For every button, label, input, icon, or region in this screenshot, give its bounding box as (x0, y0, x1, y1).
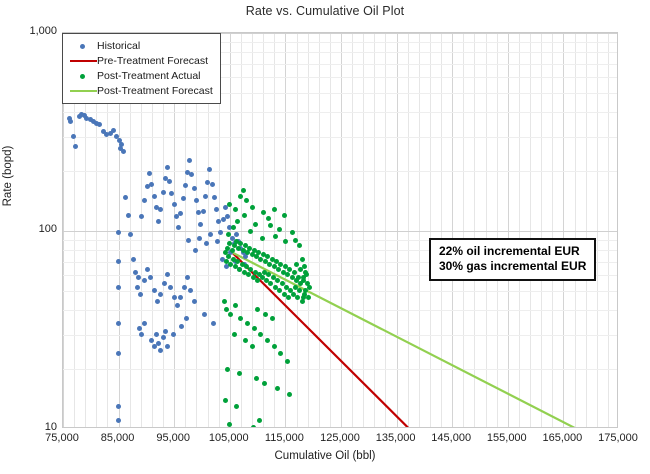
data-point (241, 188, 246, 193)
data-point (169, 191, 174, 196)
data-point (225, 214, 230, 219)
data-point (272, 344, 277, 349)
data-point (119, 142, 124, 147)
data-point (202, 312, 207, 317)
data-point (238, 316, 243, 321)
data-point (152, 194, 157, 199)
data-point (260, 236, 265, 241)
data-point (135, 285, 140, 290)
data-point (149, 338, 154, 343)
data-point (294, 262, 299, 267)
y-axis-label: Rate (bopd) (2, 116, 14, 236)
data-point (111, 128, 116, 133)
data-point (268, 223, 273, 228)
data-point (154, 332, 159, 337)
data-point (142, 198, 147, 203)
annotation-box: 22% oil incremental EUR 30% gas incremen… (429, 238, 596, 281)
data-point (116, 418, 121, 423)
data-point (198, 222, 203, 227)
data-point (175, 303, 180, 308)
data-point (203, 194, 208, 199)
data-point (142, 321, 147, 326)
legend-label: Pre-Treatment Forecast (97, 55, 208, 67)
data-point (233, 303, 238, 308)
data-point (139, 214, 144, 219)
data-point (300, 257, 305, 262)
data-point (178, 295, 183, 300)
data-point (136, 275, 141, 280)
data-point (218, 230, 223, 235)
legend-dot-icon (69, 70, 97, 82)
data-point (252, 326, 257, 331)
data-point (250, 205, 255, 210)
annotation-line-1: 22% oil incremental EUR (439, 244, 586, 259)
data-point (244, 198, 249, 203)
data-point (197, 236, 202, 241)
data-point (185, 275, 190, 280)
legend-item-post-treatment-forecast: Post-Treatment Forecast (69, 83, 213, 98)
data-point (286, 295, 291, 300)
data-point (145, 267, 150, 272)
data-point (137, 326, 142, 331)
data-point (285, 359, 290, 364)
data-point (245, 321, 250, 326)
data-point (273, 234, 278, 239)
y-axis-label-wrap: Rate (bopd) (0, 170, 118, 190)
data-point (306, 295, 311, 300)
data-point (172, 295, 177, 300)
chart-root: Rate vs. Cumulative Oil Plot 101001,000 … (0, 0, 650, 474)
data-point (193, 248, 198, 253)
data-point (121, 149, 126, 154)
legend-line-icon (69, 85, 97, 97)
data-point (158, 207, 163, 212)
data-point (176, 225, 181, 230)
data-point (255, 307, 260, 312)
data-point (208, 232, 213, 237)
data-point (290, 230, 295, 235)
data-point (250, 344, 255, 349)
data-point (210, 182, 215, 187)
data-point (179, 324, 184, 329)
data-point (158, 348, 163, 353)
data-point (161, 335, 166, 340)
data-point (277, 227, 282, 232)
data-point (233, 207, 238, 212)
data-point (184, 316, 189, 321)
data-point (254, 376, 259, 381)
data-point (189, 172, 194, 177)
data-point (263, 312, 268, 317)
data-point (126, 213, 131, 218)
data-point (172, 202, 177, 207)
data-point (182, 285, 187, 290)
data-point (214, 207, 219, 212)
data-point (212, 195, 217, 200)
data-point (297, 243, 302, 248)
data-point (282, 213, 287, 218)
data-point (255, 278, 260, 283)
data-point (183, 183, 188, 188)
data-point (181, 196, 186, 201)
data-point (149, 182, 154, 187)
data-point (265, 338, 270, 343)
data-point (68, 119, 73, 124)
data-point (301, 295, 306, 300)
data-point (192, 186, 197, 191)
legend-label: Post-Treatment Actual (97, 70, 201, 82)
data-point (262, 381, 267, 386)
data-point (211, 321, 216, 326)
data-point (261, 210, 266, 215)
annotation-line-2: 30% gas incremental EUR (439, 259, 586, 274)
data-point (178, 211, 183, 216)
data-point (148, 275, 153, 280)
legend-item-post-treatment-actual: Post-Treatment Actual (69, 68, 213, 83)
data-point (292, 270, 297, 275)
data-point (228, 312, 233, 317)
data-point (266, 216, 271, 221)
data-point (222, 299, 227, 304)
data-point (165, 272, 170, 277)
data-point (303, 270, 308, 275)
data-point (251, 425, 256, 428)
data-point (192, 299, 197, 304)
data-point (147, 171, 152, 176)
data-point (227, 202, 232, 207)
data-point (165, 344, 170, 349)
data-point (186, 238, 191, 243)
data-point (171, 332, 176, 337)
data-point (238, 194, 243, 199)
data-point (223, 398, 228, 403)
data-point (139, 332, 144, 337)
data-point (248, 229, 253, 234)
data-point (201, 209, 206, 214)
legend-item-historical: Historical (69, 38, 213, 53)
data-point (188, 288, 193, 293)
data-point (116, 404, 121, 409)
data-point (278, 351, 283, 356)
data-point (307, 285, 312, 290)
data-point (165, 165, 170, 170)
x-axis-tick-label: 175,000 (583, 432, 650, 444)
x-axis-label: Cumulative Oil (bbl) (0, 450, 650, 462)
data-point (237, 371, 242, 376)
data-point (287, 392, 292, 397)
data-point (142, 278, 147, 283)
data-point (116, 285, 121, 290)
data-point (156, 219, 161, 224)
legend-label: Post-Treatment Forecast (97, 85, 213, 97)
data-point (167, 179, 172, 184)
data-point (207, 167, 212, 172)
data-point (232, 332, 237, 337)
data-point (73, 144, 78, 149)
data-point (138, 292, 143, 297)
data-point (227, 422, 232, 427)
data-point (123, 195, 128, 200)
data-point (97, 122, 102, 127)
data-point (275, 386, 280, 391)
data-point (133, 270, 138, 275)
data-point (231, 225, 236, 230)
legend-label: Historical (97, 40, 140, 52)
data-point (243, 338, 248, 343)
data-point (242, 213, 247, 218)
data-point (215, 239, 220, 244)
legend-line-icon (69, 55, 97, 67)
data-point (116, 259, 121, 264)
data-point (234, 404, 239, 409)
data-point (158, 292, 163, 297)
data-point (156, 341, 161, 346)
data-point (155, 299, 160, 304)
data-point (128, 232, 133, 237)
data-point (253, 222, 258, 227)
chart-legend: Historical Pre-Treatment Forecast Post-T… (62, 33, 221, 104)
y-axis-tick-label: 1,000 (0, 25, 57, 37)
legend-dot-icon (69, 40, 97, 52)
data-point (194, 198, 199, 203)
data-point (116, 230, 121, 235)
data-point (293, 238, 298, 243)
data-point (161, 190, 166, 195)
data-point (131, 257, 136, 262)
data-point (163, 329, 168, 334)
data-point (168, 285, 173, 290)
chart-title: Rate vs. Cumulative Oil Plot (0, 4, 650, 18)
data-point (234, 232, 239, 237)
data-point (272, 207, 277, 212)
data-point (235, 219, 240, 224)
data-point (71, 134, 76, 139)
data-point (225, 367, 230, 372)
data-point (187, 158, 192, 163)
data-point (258, 332, 263, 337)
data-point (162, 281, 167, 286)
legend-item-pre-treatment-forecast: Pre-Treatment Forecast (69, 53, 213, 68)
data-point (283, 239, 288, 244)
data-point (204, 241, 209, 246)
data-point (257, 418, 262, 423)
data-point (116, 351, 121, 356)
data-point (152, 288, 157, 293)
data-point (116, 321, 121, 326)
data-point (230, 248, 235, 253)
data-point (243, 254, 248, 259)
data-point (270, 316, 275, 321)
